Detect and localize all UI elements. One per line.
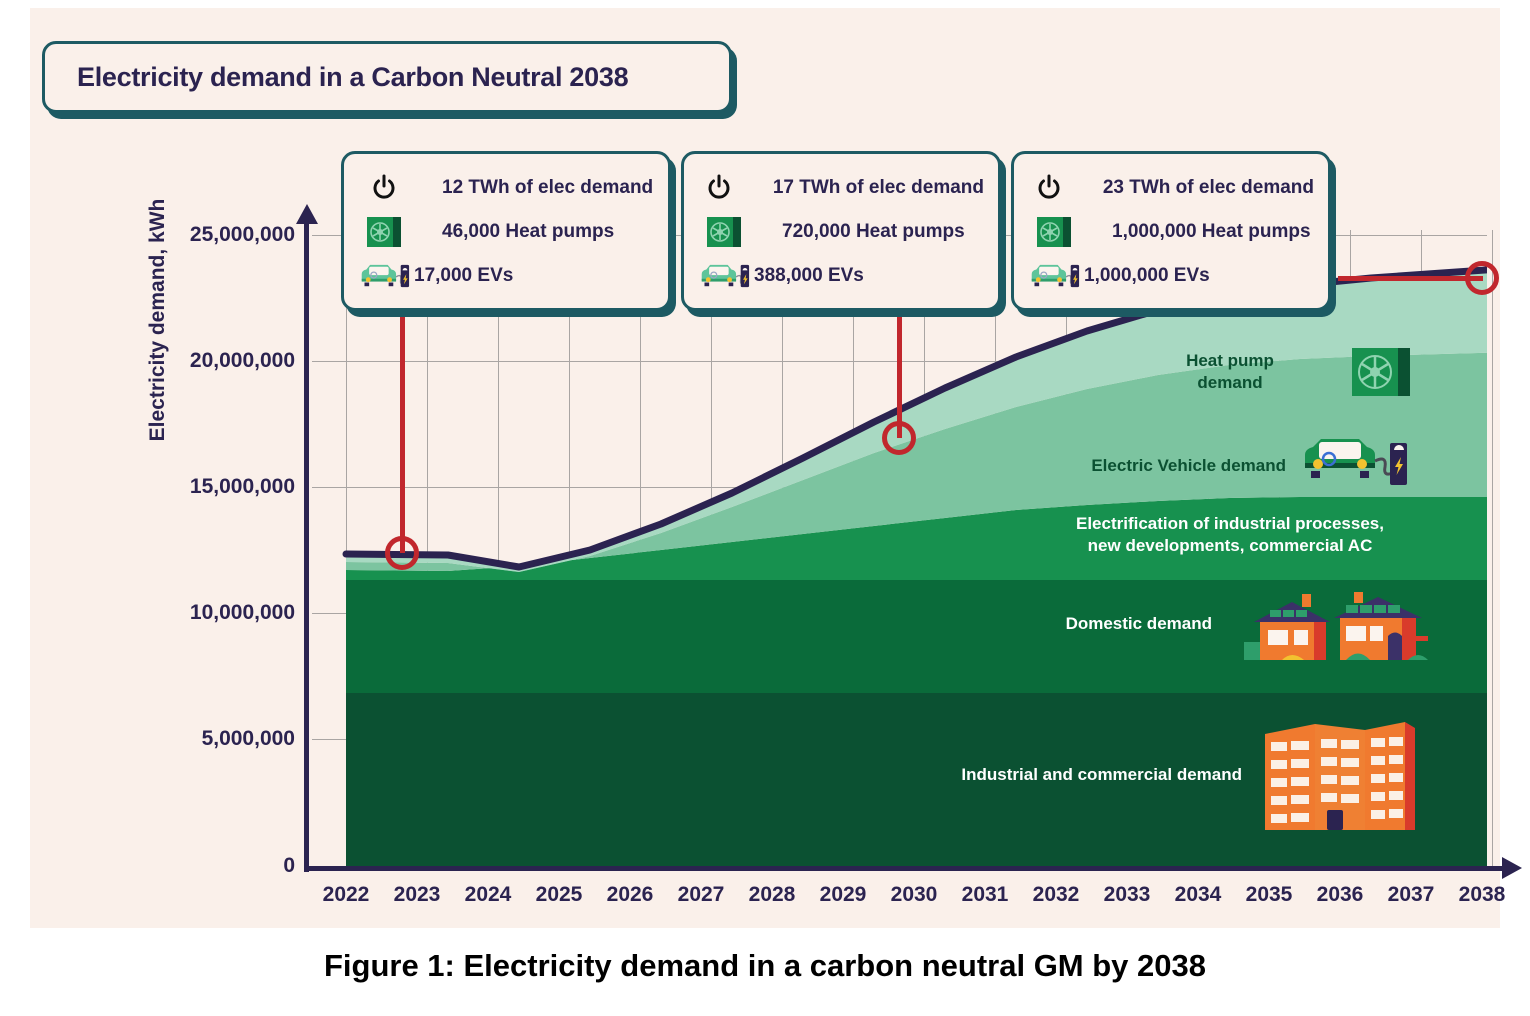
y-tick-5: 25,000,000 (65, 223, 295, 247)
callout-2038[interactable]: 23 TWh of elec demand 1,000,000 Heat pum… (1011, 151, 1331, 311)
callout-row-heatpumps: 720,000 Heat pumps (698, 210, 984, 254)
callout-evs-text: 17,000 EVs (414, 265, 513, 287)
band-label-heat-pump-demand: Heat pump demand (1150, 350, 1310, 394)
callout-row-heatpumps: 46,000 Heat pumps (358, 210, 654, 254)
houses-illustration-icon (1242, 592, 1432, 662)
x-tick-2026: 2026 (595, 883, 665, 907)
x-tick-2030: 2030 (879, 883, 949, 907)
callout-evs-text: 388,000 EVs (754, 265, 864, 287)
y-tick-1: 5,000,000 (65, 727, 295, 751)
x-tick-2034: 2034 (1163, 883, 1233, 907)
band-label-electrification: Electrification of industrial processes,… (1030, 513, 1430, 557)
heat-pump-icon (1028, 217, 1080, 247)
x-tick-2037: 2037 (1376, 883, 1446, 907)
ev-charging-icon (1028, 261, 1080, 291)
gridline-v-2038 (1492, 230, 1493, 870)
x-tick-2023: 2023 (382, 883, 452, 907)
x-tick-2029: 2029 (808, 883, 878, 907)
band-label-ev-demand: Electric Vehicle demand (1036, 455, 1286, 477)
callout-2030[interactable]: 17 TWh of elec demand 720,000 Heat pumps (681, 151, 1001, 311)
callout-demand-text: 12 TWh of elec demand (442, 177, 653, 199)
leader-line-2030 (897, 308, 902, 438)
callout-heatpumps-text: 720,000 Heat pumps (782, 221, 965, 243)
heat-pump-icon (358, 217, 410, 247)
callout-row-demand: 12 TWh of elec demand (358, 166, 654, 210)
callout-row-heatpumps: 1,000,000 Heat pumps (1028, 210, 1314, 254)
callout-row-demand: 23 TWh of elec demand (1028, 166, 1314, 210)
callout-demand-text: 23 TWh of elec demand (1103, 177, 1314, 199)
ev-charging-icon (698, 261, 750, 291)
y-axis-line (304, 220, 309, 872)
callout-heatpumps-text: 1,000,000 Heat pumps (1112, 221, 1311, 243)
x-tick-2031: 2031 (950, 883, 1020, 907)
figure-panel: Electricity demand in a Carbon Neutral 2… (30, 8, 1500, 928)
x-axis-line (304, 866, 1510, 871)
heat-pump-icon (698, 217, 750, 247)
x-tick-2024: 2024 (453, 883, 523, 907)
marker-2030[interactable] (882, 421, 916, 455)
ev-charging-illustration-icon (1297, 433, 1407, 489)
x-tick-2036: 2036 (1305, 883, 1375, 907)
x-tick-2032: 2032 (1021, 883, 1091, 907)
x-axis-arrow-icon (1502, 857, 1522, 879)
marker-2038[interactable] (1465, 261, 1499, 295)
industrial-building-icon (1257, 712, 1417, 832)
callout-evs-text: 1,000,000 EVs (1084, 265, 1210, 287)
figure-caption: Figure 1: Electricity demand in a carbon… (0, 948, 1530, 984)
heat-pump-icon (1352, 348, 1412, 396)
x-tick-2038: 2038 (1447, 883, 1517, 907)
y-axis-ticks: 0 5,000,000 10,000,000 15,000,000 20,000… (40, 8, 295, 928)
y-axis-arrow-icon (296, 204, 318, 224)
x-tick-2027: 2027 (666, 883, 736, 907)
callout-2023[interactable]: 12 TWh of elec demand 46,000 Heat pumps (341, 151, 671, 311)
power-icon (698, 174, 741, 202)
x-axis-ticks: 2022 2023 2024 2025 2026 2027 2028 2029 … (312, 883, 1512, 917)
band-label-domestic-demand: Domestic demand (1012, 613, 1212, 635)
x-tick-2028: 2028 (737, 883, 807, 907)
x-tick-2022: 2022 (311, 883, 381, 907)
power-icon (1028, 174, 1071, 202)
callout-demand-text: 17 TWh of elec demand (773, 177, 984, 199)
x-tick-2033: 2033 (1092, 883, 1162, 907)
marker-2023[interactable] (385, 536, 419, 570)
callout-heatpumps-text: 46,000 Heat pumps (442, 221, 614, 243)
callout-row-evs: 1,000,000 EVs (1028, 254, 1314, 298)
y-tick-2: 10,000,000 (65, 601, 295, 625)
y-tick-4: 20,000,000 (65, 349, 295, 373)
ev-charging-icon (358, 261, 410, 291)
leader-line-2038 (1338, 276, 1483, 281)
y-tick-0: 0 (65, 854, 295, 878)
callout-row-evs: 17,000 EVs (358, 254, 654, 298)
callout-row-evs: 388,000 EVs (698, 254, 984, 298)
y-tick-3: 15,000,000 (65, 475, 295, 499)
x-tick-2025: 2025 (524, 883, 594, 907)
leader-line-2023 (400, 308, 405, 553)
band-label-industrial-demand: Industrial and commercial demand (892, 764, 1242, 786)
callout-row-demand: 17 TWh of elec demand (698, 166, 984, 210)
power-icon (358, 174, 410, 202)
x-tick-2035: 2035 (1234, 883, 1304, 907)
